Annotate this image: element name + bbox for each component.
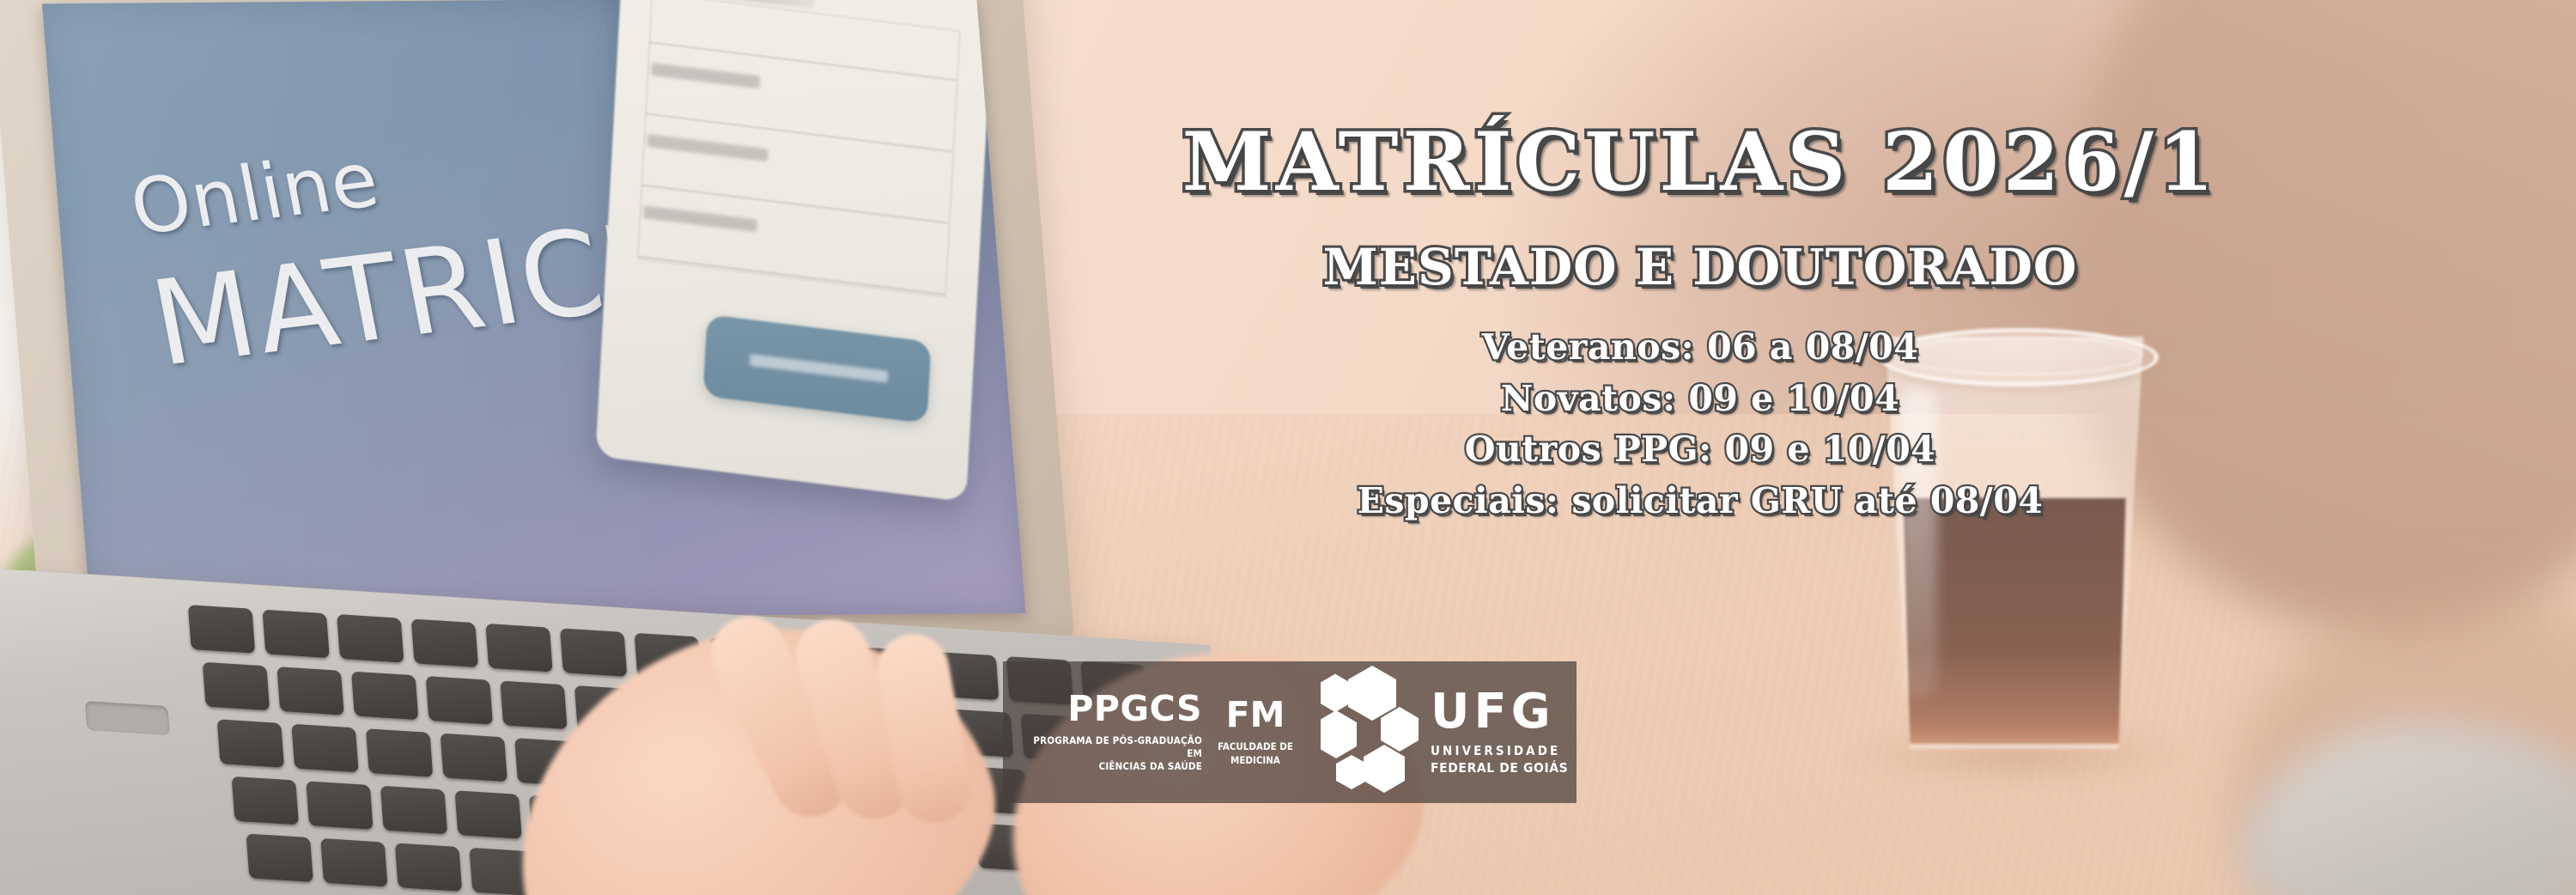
ufg-text-group: UFG UNIVERSIDADE FEDERAL DE GOIÁS: [1431, 688, 1568, 777]
hexagon-cluster-icon: [1321, 664, 1422, 801]
logo-fm: FM FACULDADE DE MEDICINA: [1202, 697, 1298, 766]
date-list: Veteranos: 06 a 08/04 Novatos: 09 e 10/0…: [1073, 322, 2327, 527]
laptop-screen: Online MATRICULA: [42, 0, 1025, 620]
laptop-side-port: [85, 701, 170, 735]
ufg-full-line2: FEDERAL DE GOIÁS: [1431, 759, 1568, 776]
ppgcs-full-line1: PROGRAMA DE PÓS-GRADUAÇÃO EM: [1029, 734, 1202, 760]
enrollment-banner: Online MATRICULA: [0, 0, 2576, 895]
date-line-outros-ppg: Outros PPG: 09 e 10/04: [1073, 424, 2327, 476]
screen-form-card: [595, 0, 994, 502]
headline-block: MATRÍCULAS 2026/1 MESTADO E DOUTORADO Ve…: [1073, 120, 2327, 527]
date-line-especiais: Especiais: solicitar GRU até 08/04: [1073, 476, 2327, 527]
page-title: MATRÍCULAS 2026/1: [1073, 120, 2327, 205]
ufg-acronym: UFG: [1431, 688, 1568, 736]
fm-full-line1: FACULDADE DE: [1212, 740, 1298, 753]
institution-logo-bar: PPGCS PROGRAMA DE PÓS-GRADUAÇÃO EM CIÊNC…: [1003, 661, 1577, 803]
form-submit-button: [702, 314, 931, 423]
fm-full-line2: MEDICINA: [1212, 754, 1298, 767]
date-line-novatos: Novatos: 09 e 10/04: [1073, 374, 2327, 425]
logo-ufg: UFG UNIVERSIDADE FEDERAL DE GOIÁS: [1321, 664, 1568, 801]
logo-ppgcs: PPGCS PROGRAMA DE PÓS-GRADUAÇÃO EM CIÊNC…: [1003, 691, 1202, 774]
ufg-full-line1: UNIVERSIDADE: [1431, 743, 1568, 760]
date-line-veteranos: Veteranos: 06 a 08/04: [1073, 322, 2327, 374]
ppgcs-acronym: PPGCS: [1029, 691, 1202, 727]
form-submit-label: [750, 354, 888, 383]
fm-acronym: FM: [1212, 697, 1298, 733]
ppgcs-full-line2: CIÊNCIAS DA SAÚDE: [1029, 760, 1202, 773]
page-subtitle: MESTADO E DOUTORADO: [1073, 238, 2327, 296]
